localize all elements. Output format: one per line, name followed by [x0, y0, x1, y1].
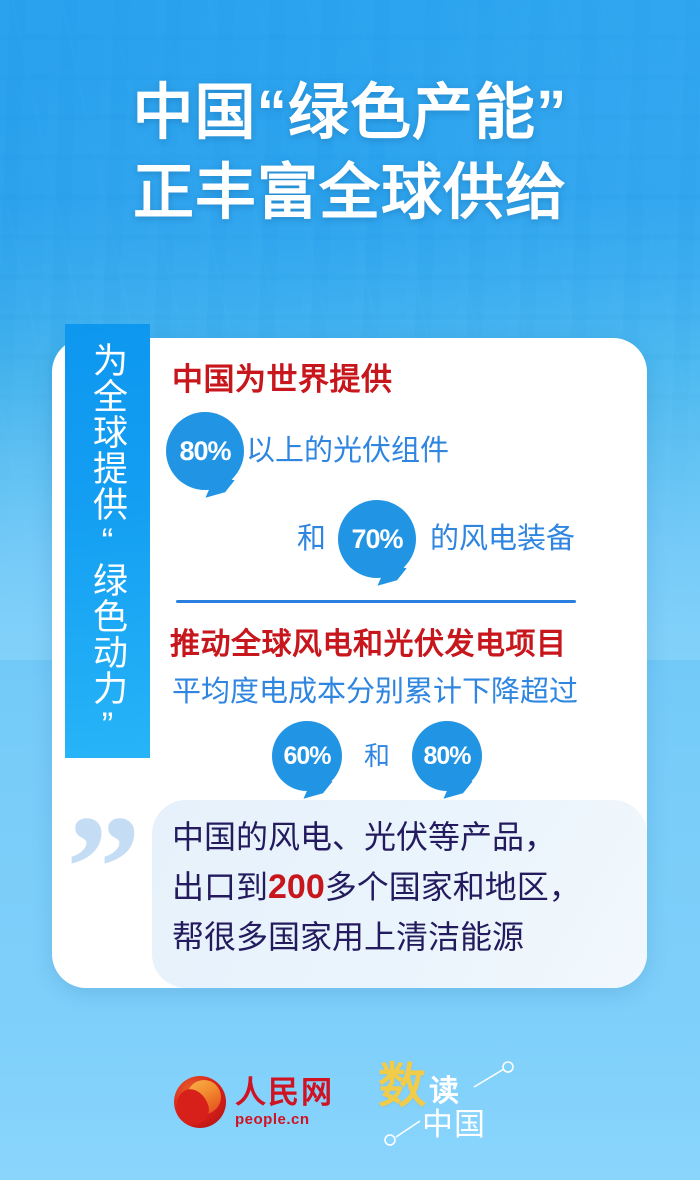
side-tab: 为全球提供“绿色动力”: [65, 324, 150, 758]
section2-heading: 推动全球风电和光伏发电项目: [170, 625, 632, 665]
infographic-poster: 中国“绿色产能” 正丰富全球供给 为全球提供“绿色动力” 中国为世界提供 80%…: [0, 0, 700, 1180]
badge-80-percent-pv-cost: 80%: [412, 721, 482, 791]
quote-line-2-suffix: 多个国家和地区，: [325, 869, 581, 905]
divider-1: [176, 600, 576, 603]
section1-conjunction: 和: [297, 522, 326, 556]
badge-60-percent-wind-cost: 60%: [272, 721, 342, 791]
people-cn-logo[interactable]: 人民网 people.cn: [174, 1076, 334, 1128]
badge-80-percent-pv: 80%: [166, 412, 244, 490]
shudu-zhongguo-logo[interactable]: 数 读 中国: [376, 1057, 526, 1147]
card-body: 中国为世界提供 80% 以上的光伏组件 和 70% 的风电装备 推动全球风电和光…: [172, 360, 632, 826]
people-cn-wordmark: 人民网 people.cn: [235, 1077, 334, 1127]
section1-heading: 中国为世界提供: [172, 360, 632, 400]
section2-badges-row: 60% 和 80%: [272, 721, 632, 791]
title-line-1: 中国“绿色产能”: [0, 72, 700, 152]
section1-line-2-text: 的风电装备: [430, 522, 575, 556]
section2-subtext: 平均度电成本分别累计下降超过: [172, 675, 578, 709]
section2-conjunction: 和: [364, 739, 390, 773]
quote-text: 中国的风电、光伏等产品， 出口到200多个国家和地区， 帮很多国家用上清洁能源: [172, 812, 642, 962]
poster-title: 中国“绿色产能” 正丰富全球供给: [0, 72, 700, 232]
quote-line-1: 中国的风电、光伏等产品，: [172, 812, 642, 862]
people-cn-name-en: people.cn: [235, 1112, 334, 1127]
footer: 人民网 people.cn 数 读 中国: [0, 1052, 700, 1152]
badge-70-percent-wind: 70%: [338, 500, 416, 578]
people-cn-mark-icon: [174, 1076, 226, 1128]
section1-line-2: 和 70% 的风电装备: [297, 500, 632, 578]
side-tab-label: 为全球提供“绿色动力”: [86, 342, 129, 746]
section1-line-1-text: 以上的光伏组件: [246, 434, 449, 468]
shudu-char-du: 读: [429, 1077, 459, 1107]
section1-line-1: 80% 以上的光伏组件: [166, 412, 632, 490]
quote-line-2-prefix: 出口到: [172, 869, 268, 905]
quote-highlight-number: 200: [268, 868, 325, 906]
shudu-char-shu: 数: [378, 1063, 426, 1111]
section2-subtext-row: 平均度电成本分别累计下降超过: [172, 675, 632, 709]
quote-line-2: 出口到200多个国家和地区，: [172, 862, 642, 912]
quote-line-3: 帮很多国家用上清洁能源: [172, 912, 642, 962]
people-cn-name-cn: 人民网: [235, 1077, 334, 1108]
shudu-line-zhongguo: 中国: [422, 1109, 486, 1140]
quote-mark-icon: ”: [66, 828, 135, 908]
title-line-2: 正丰富全球供给: [0, 152, 700, 232]
